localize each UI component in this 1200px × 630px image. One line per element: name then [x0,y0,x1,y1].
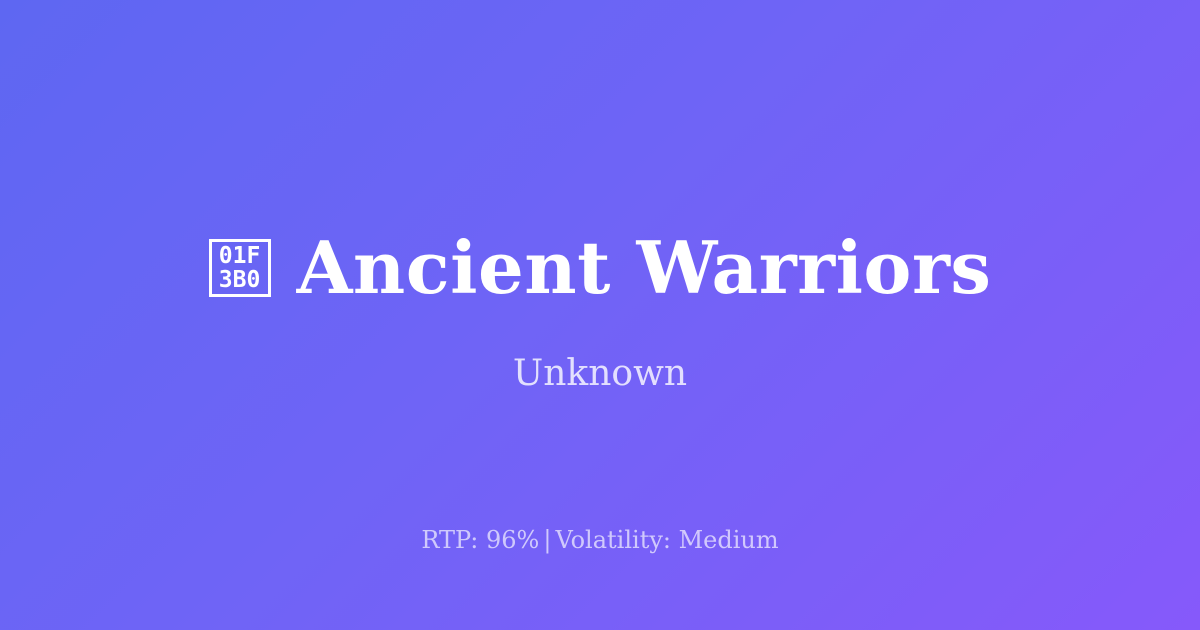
codepoint-hex-bottom: 3B0 [219,268,261,292]
page-title: Ancient Warriors [297,232,992,304]
card-subtitle: Unknown [513,356,687,392]
meta-separator: | [539,526,555,554]
game-preview-card: 01F 3B0 Ancient Warriors Unknown RTP: 96… [0,0,1200,630]
card-hero: 01F 3B0 Ancient Warriors [0,232,1200,304]
rtp-value: RTP: 96% [421,526,539,554]
codepoint-hex-top: 01F [219,244,261,268]
volatility-value: Volatility: Medium [555,526,778,554]
card-meta-line: RTP: 96%|Volatility: Medium [0,528,1200,552]
slot-machine-icon: 01F 3B0 [209,239,271,297]
